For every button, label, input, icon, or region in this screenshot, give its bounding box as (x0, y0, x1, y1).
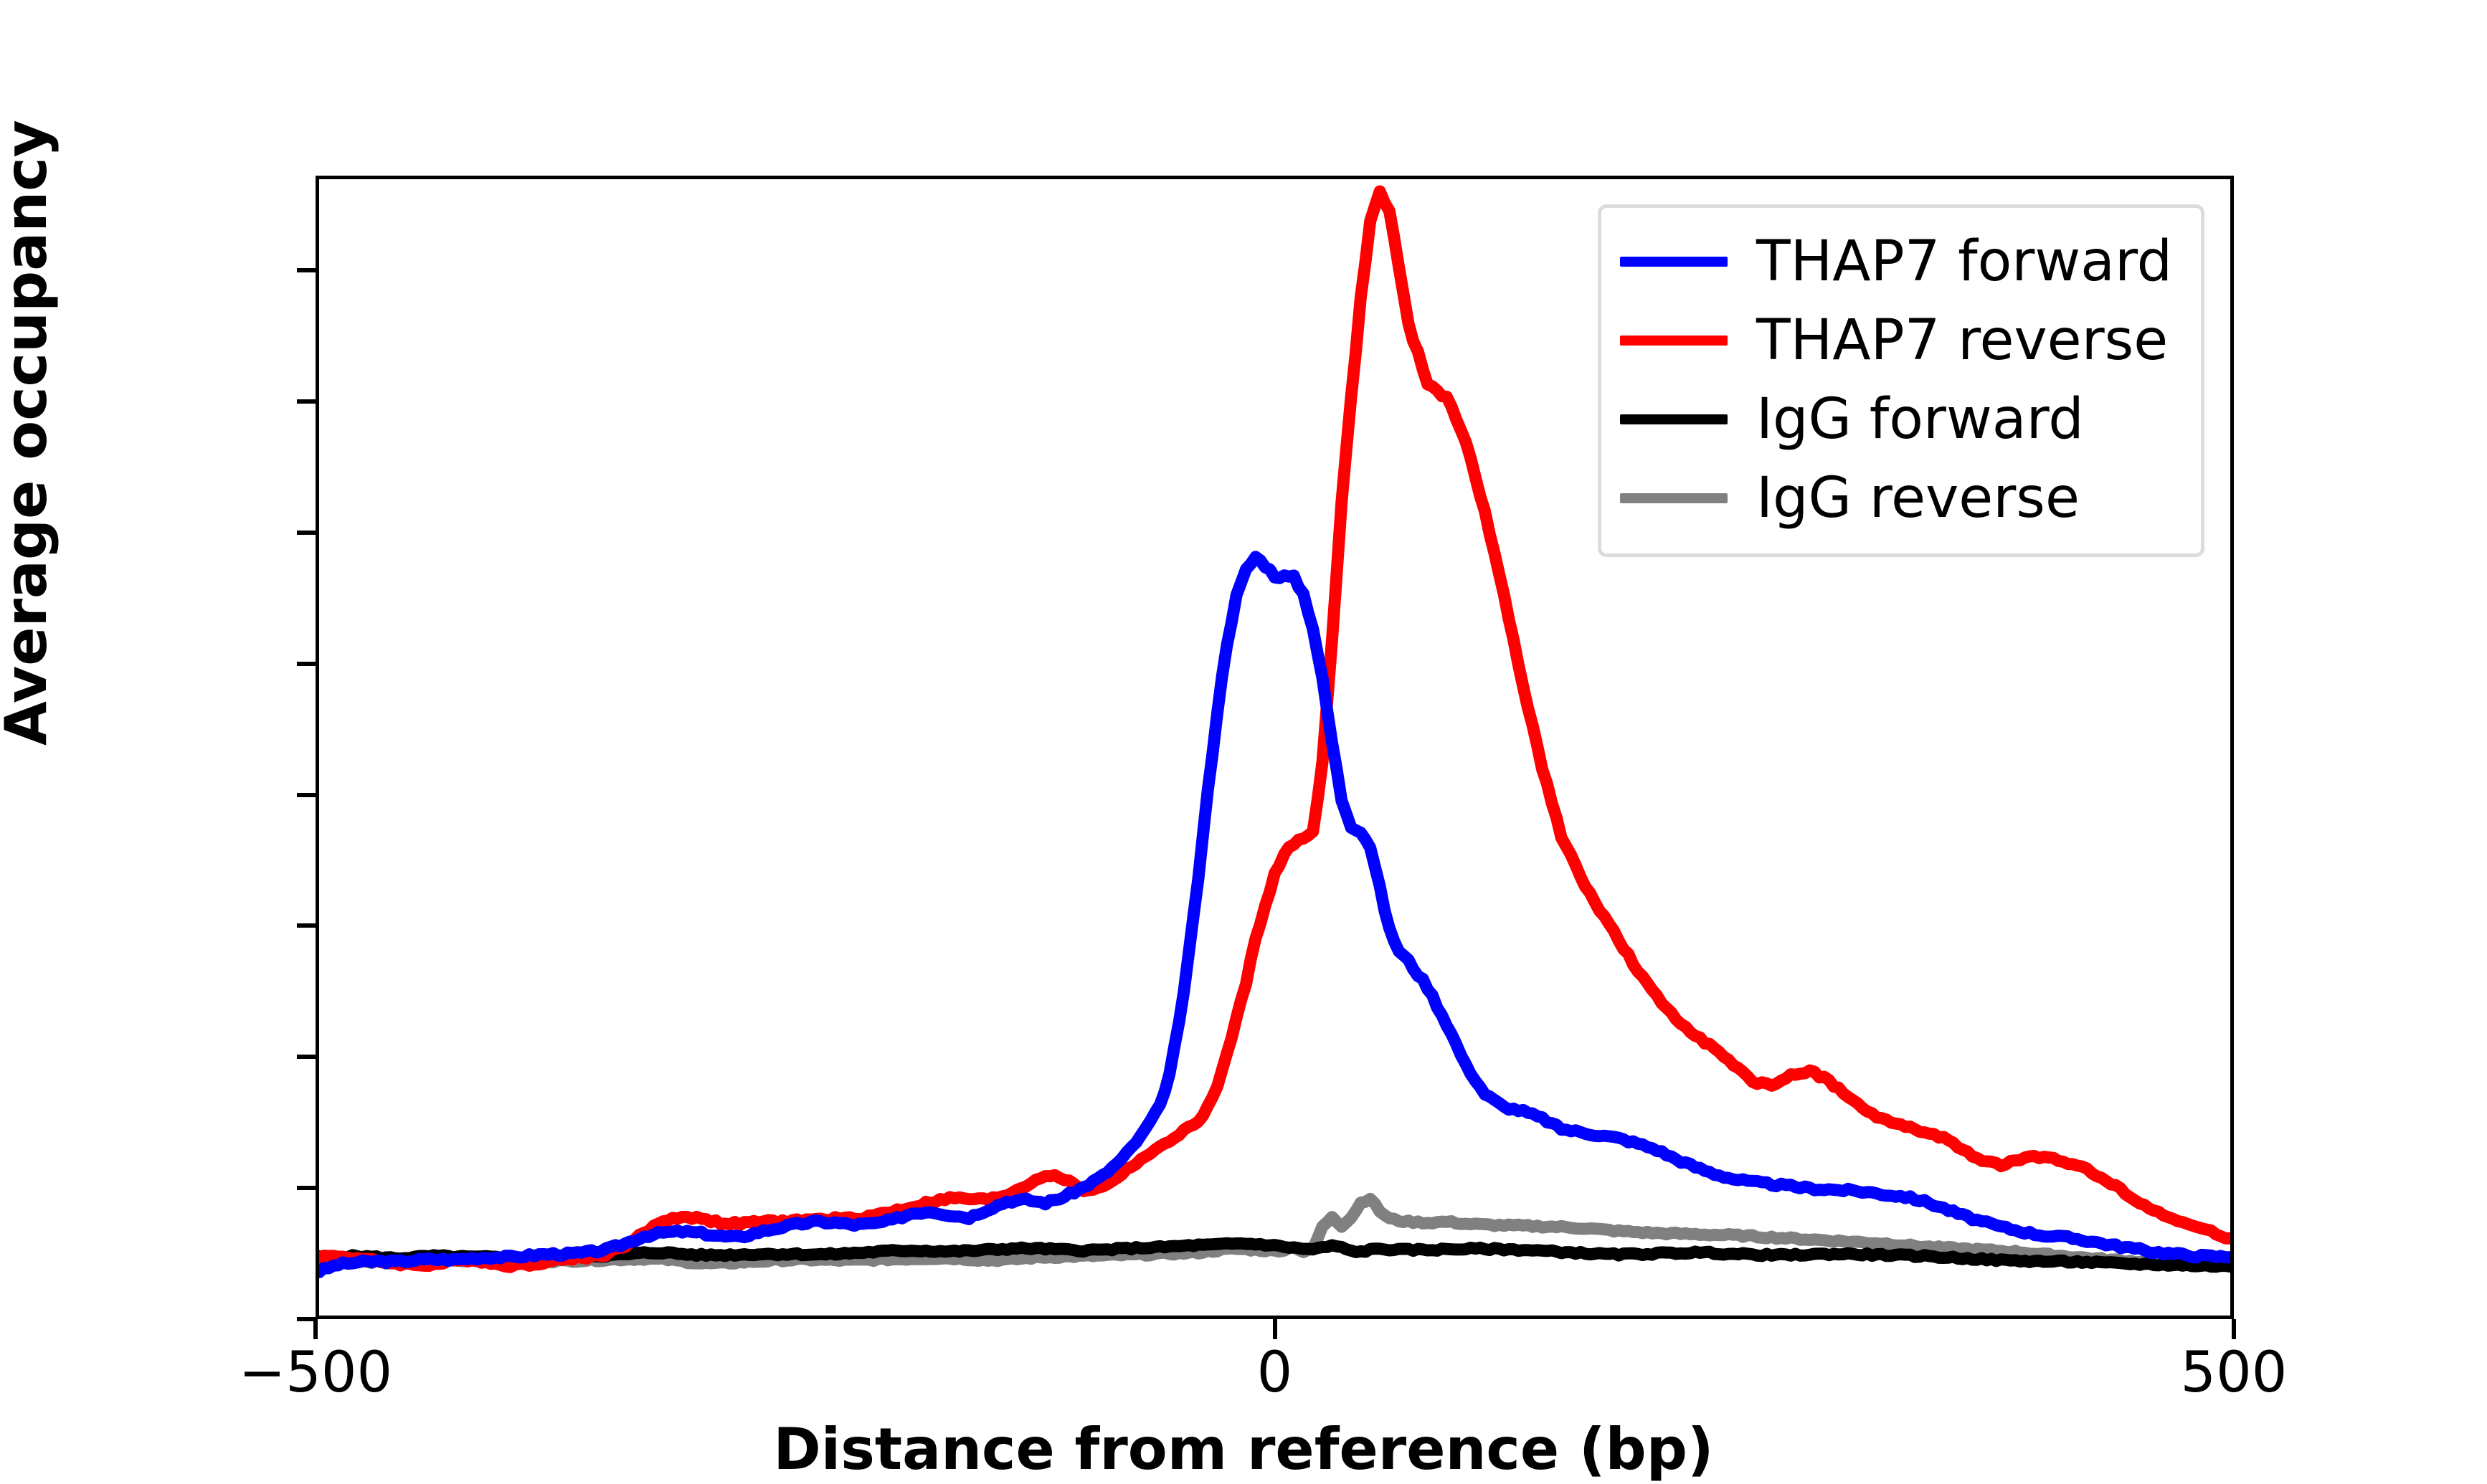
x-tick-label: 0 (1257, 1341, 1293, 1405)
legend-label: THAP7 reverse (1756, 313, 2168, 368)
y-tick-mark (297, 531, 316, 535)
y-tick-mark (297, 662, 316, 666)
legend-item-igg-reverse[interactable]: IgG reverse (1620, 459, 2172, 538)
legend-item-igg-forward[interactable]: IgG forward (1620, 380, 2172, 459)
x-tick-label: −500 (239, 1341, 392, 1405)
y-tick-mark (297, 1186, 316, 1190)
legend-label: THAP7 forward (1756, 234, 2172, 290)
legend-swatch-icon (1620, 414, 1728, 424)
legend-item-thap7-reverse[interactable]: THAP7 reverse (1620, 301, 2172, 380)
legend-label: IgG reverse (1756, 470, 2080, 526)
x-axis-label: Distance from reference (bp) (0, 1416, 2487, 1483)
series-line-thap7-forward (319, 557, 2230, 1273)
x-tick-mark (313, 1319, 318, 1339)
y-tick-mark (297, 399, 316, 404)
figure-canvas: 0.2000.1750.1500.1250.1000.0750.0500.025… (0, 0, 2487, 1484)
y-tick-mark (297, 1055, 316, 1059)
legend-swatch-icon (1620, 336, 1728, 346)
legend-box: THAP7 forwardTHAP7 reverseIgG forwardIgG… (1598, 204, 2204, 557)
legend-swatch-icon (1620, 257, 1728, 267)
legend-item-thap7-forward[interactable]: THAP7 forward (1620, 222, 2172, 301)
y-axis-label: Average occupancy (0, 120, 60, 746)
legend-label: IgG forward (1756, 391, 2084, 447)
x-tick-mark (1273, 1319, 1277, 1339)
x-tick-label: 500 (2181, 1341, 2288, 1405)
x-tick-mark (2232, 1319, 2236, 1339)
legend-swatch-icon (1620, 493, 1728, 503)
y-tick-mark (297, 793, 316, 797)
y-tick-mark (297, 923, 316, 928)
y-tick-mark (297, 268, 316, 272)
